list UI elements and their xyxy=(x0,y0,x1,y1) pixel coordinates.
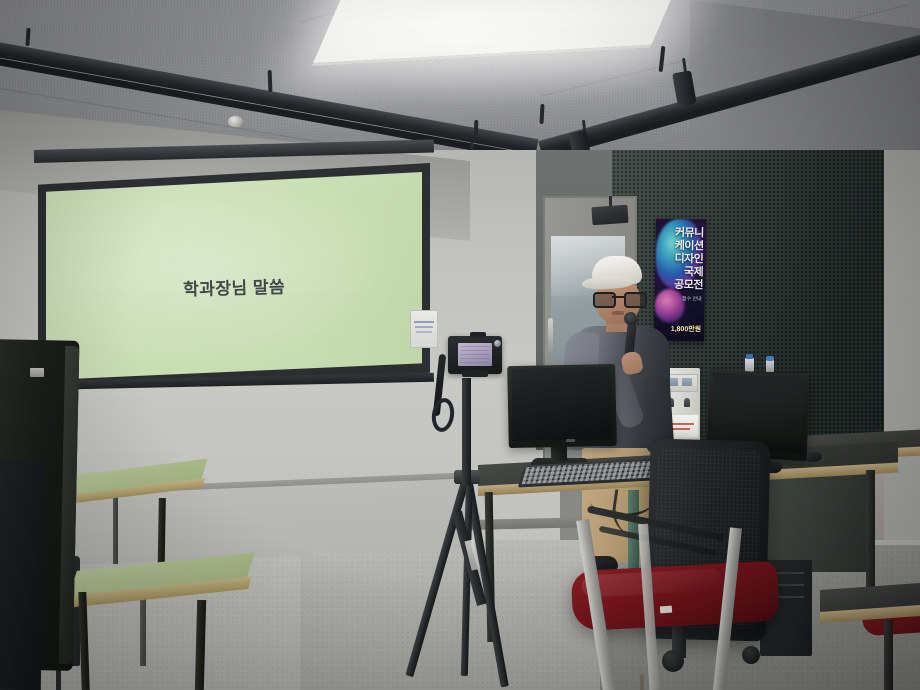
poster-line-5: 공모전 xyxy=(674,280,703,292)
glasses-lens-right xyxy=(624,292,647,308)
chair-label-tag xyxy=(660,606,672,614)
monitor-stand xyxy=(551,445,567,461)
slide-title: 학과장님 말씀 xyxy=(46,172,422,380)
desk-leg xyxy=(884,620,893,690)
poster-line-3: 디자인 xyxy=(674,254,703,266)
desk-leg xyxy=(113,494,118,564)
monitor-logo xyxy=(566,439,575,442)
pants-seam xyxy=(640,674,644,690)
monitor-screen[interactable] xyxy=(511,367,612,441)
monitor-badge xyxy=(30,368,44,377)
faucet-icon[interactable] xyxy=(684,398,690,407)
classroom-scene: 커뮤니 케이션 디자인 국제 공모전 접수 안내 1,800만원 학과장님 말씀 xyxy=(0,0,920,690)
chair-caster xyxy=(662,650,684,672)
bottle-cap xyxy=(746,354,753,359)
wall-speaker-icon xyxy=(591,205,628,225)
phone-clamp-bottom[interactable] xyxy=(462,370,488,377)
glasses-lens-left xyxy=(593,292,616,308)
sign-text-line xyxy=(415,326,433,328)
dispenser-button-hot[interactable] xyxy=(682,378,692,386)
sign-text-line xyxy=(414,321,434,323)
glasses-bridge xyxy=(612,296,624,298)
desk-leg xyxy=(140,596,146,666)
camera-lens-icon xyxy=(494,340,501,347)
door-handle[interactable] xyxy=(548,318,553,352)
foreground-panel-lower xyxy=(0,460,43,690)
far-right-wall xyxy=(884,150,920,570)
bottle-cap xyxy=(766,356,774,361)
bottle[interactable] xyxy=(745,358,754,372)
phone-clamp-top[interactable] xyxy=(470,332,486,337)
person-mouth xyxy=(612,311,624,315)
poster-line-2: 케이션 xyxy=(675,241,704,253)
rail-dropper xyxy=(268,70,273,92)
chair-caster xyxy=(742,646,760,664)
sign-text-line xyxy=(416,331,432,333)
bottle[interactable] xyxy=(766,360,774,372)
tripod-center-column[interactable] xyxy=(462,378,471,486)
rail-dropper xyxy=(474,120,479,140)
smartphone-screen-content xyxy=(460,346,490,363)
poster-subtext: 접수 안내 xyxy=(682,296,702,303)
poster-line-4: 국제 xyxy=(684,267,703,278)
ceiling-dome-speaker-icon xyxy=(228,116,243,127)
poster-line-1: 커뮤니 xyxy=(675,228,704,240)
desk-leg xyxy=(866,470,875,600)
wall-notice-sign xyxy=(410,310,438,348)
glasses-icon xyxy=(593,292,643,304)
slide-title-text: 학과장님 말씀 xyxy=(183,272,286,299)
